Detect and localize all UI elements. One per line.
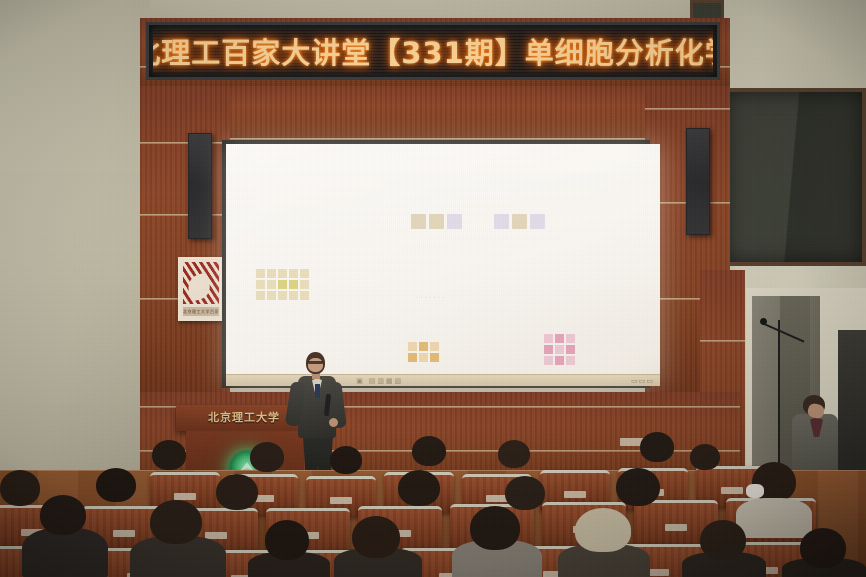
audience-head (505, 476, 545, 510)
wood-column-left (140, 86, 230, 396)
boom-mic-stand (778, 320, 780, 465)
audience-head (800, 528, 846, 568)
led-banner-text: 北理工百家大讲堂【331期】单细胞分析化学 (153, 30, 713, 72)
left-wall (0, 0, 150, 470)
audience-head (498, 440, 530, 468)
audience-head (616, 468, 660, 506)
glasses-icon (308, 361, 323, 364)
audience-head (700, 520, 746, 560)
line-array-speaker-left (188, 133, 212, 239)
taskbar-icons: ▣ ▤▥▦▧ (356, 377, 403, 385)
line-array-speaker-right (686, 128, 710, 235)
audience-head (40, 495, 86, 535)
top-right-image-strip (494, 214, 545, 229)
audience-head (250, 442, 284, 472)
slide-faint-caption: ······· (416, 294, 446, 301)
taskbar-clock: ▭▭▭ (631, 377, 654, 385)
lecture-hall-photo: 北理工百家大讲堂【331期】单细胞分析化学 北京理工大学百家大讲堂 ······… (0, 0, 866, 577)
led-banner-panel: 北理工百家大讲堂【331期】单细胞分析化学 (153, 29, 713, 73)
audience-shoulders (22, 528, 108, 577)
audience-head (352, 516, 400, 558)
wall-poster: 北京理工大学百家大讲堂 (178, 257, 224, 321)
audience-head (265, 520, 309, 560)
yellow-tile-grid (256, 269, 309, 300)
audience-head (640, 432, 674, 462)
pink-tile-grid (544, 334, 575, 365)
audience-head (330, 446, 362, 474)
audience-head (150, 500, 202, 544)
microphone-icon (760, 318, 767, 325)
audience-head (470, 506, 520, 550)
audience-shoulders (736, 498, 812, 538)
audience-head (690, 444, 720, 470)
audience-head-cap (575, 508, 631, 552)
poster-caption: 北京理工大学百家大讲堂 (183, 307, 219, 316)
audience-head (96, 468, 136, 502)
standing-attendee-far-right (838, 330, 866, 480)
projection-screen: ······· ▣ ▤▥▦▧ ▭▭▭ (226, 144, 660, 386)
audience-head (412, 436, 446, 466)
audience-head (0, 470, 40, 506)
presenter-tie (315, 384, 320, 398)
face-mask-icon (746, 484, 764, 498)
presenter-right-hand (329, 418, 338, 427)
top-left-image-strip (411, 214, 462, 229)
wall-blackboard (722, 88, 866, 266)
led-banner: 北理工百家大讲堂【331期】单细胞分析化学 (146, 22, 720, 80)
orange-tile-grid (408, 342, 439, 362)
audience-head (152, 440, 186, 470)
audience-head (398, 470, 440, 506)
audience-head (216, 474, 258, 510)
